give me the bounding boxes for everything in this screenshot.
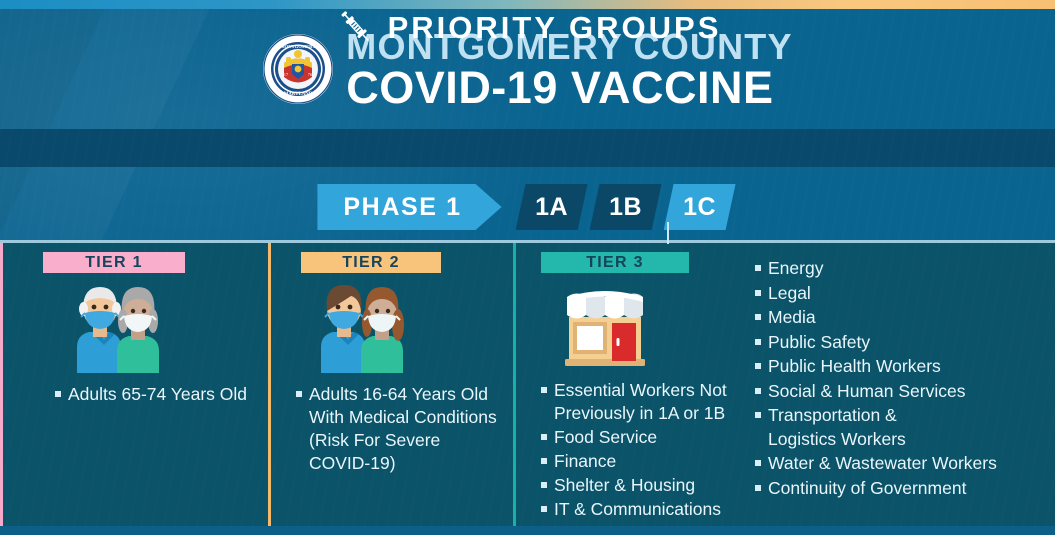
top-gradient-bar — [0, 0, 1055, 9]
bullet-square-icon — [755, 412, 761, 418]
bullet-square-icon — [755, 314, 761, 320]
phase-navigation: PHASE 1 1A 1B 1C — [0, 181, 1055, 233]
list-item: Continuity of Government — [755, 477, 1047, 501]
infographic-root: MONTGOMERY MARYLAND 17 76 MONTGOMERY COU… — [0, 0, 1055, 535]
bullet-square-icon — [541, 506, 547, 512]
tab-1c[interactable]: 1C — [664, 184, 736, 230]
list-item: Public Safety — [755, 331, 1047, 355]
tab-1b[interactable]: 1B — [590, 184, 662, 230]
tier-1-accent-line — [0, 243, 3, 526]
page-subtitle: PRIORITY GROUPS — [388, 10, 722, 46]
subtitle-band — [0, 129, 1055, 167]
list-item: Adults 16-64 Years Old With Medical Cond… — [296, 383, 505, 475]
tiers-content-area: TIER 1 — [0, 243, 1055, 526]
bullet-square-icon — [541, 434, 547, 440]
bottom-gradient-bar — [0, 526, 1055, 535]
tier-2-items: Adults 16-64 Years Old With Medical Cond… — [296, 383, 505, 476]
tier-1-label: TIER 1 — [43, 252, 185, 273]
bullet-square-icon — [541, 458, 547, 464]
list-item: Social & Human Services — [755, 380, 1047, 404]
list-item: Food Service — [541, 426, 737, 449]
list-item: Essential Workers Not Previously in 1A o… — [541, 379, 737, 425]
bullet-square-icon — [541, 387, 547, 393]
tier-3-accent-line — [513, 243, 516, 526]
tab-1a-label: 1A — [535, 193, 568, 222]
list-item: Transportation & Logistics Workers — [755, 404, 1047, 451]
bullet-square-icon — [755, 388, 761, 394]
bullet-square-icon — [755, 363, 761, 369]
header-banner: MONTGOMERY MARYLAND 17 76 MONTGOMERY COU… — [0, 9, 1055, 243]
tier-3-continued-items: Energy Legal Media Public Safety Public … — [755, 257, 1047, 501]
band-stripe-texture — [0, 129, 1055, 167]
bullet-square-icon — [755, 265, 761, 271]
tab-1b-label: 1B — [609, 193, 642, 222]
bullet-square-icon — [755, 485, 761, 491]
bullet-square-icon — [755, 290, 761, 296]
tier-2-column: TIER 2 — [268, 243, 513, 526]
list-item: Water & Wastewater Workers — [755, 452, 1047, 476]
tab-1c-connector-line — [667, 222, 669, 244]
tab-1c-selected-outline — [660, 179, 740, 235]
list-item: Media — [755, 306, 1047, 330]
list-item: Adults 65-74 Years Old — [55, 383, 260, 406]
bullet-square-icon — [55, 391, 61, 397]
bullet-square-icon — [755, 460, 761, 466]
tab-1a[interactable]: 1A — [516, 184, 588, 230]
bullet-square-icon — [541, 482, 547, 488]
tier-3-continued-column: Energy Legal Media Public Safety Public … — [745, 243, 1055, 526]
storefront-icon — [555, 281, 655, 371]
list-item: IT & Communications — [541, 498, 737, 521]
syringe-icon — [334, 9, 378, 49]
list-item: Finance — [541, 450, 737, 473]
phase-1-label[interactable]: PHASE 1 — [317, 184, 501, 230]
tier-3-items: Essential Workers Not Previously in 1A o… — [541, 379, 737, 522]
adult-couple-masked-icon — [303, 281, 419, 373]
tier-1-items: Adults 65-74 Years Old — [55, 383, 260, 407]
header-content-divider — [0, 240, 1055, 243]
list-item: Shelter & Housing — [541, 474, 737, 497]
tier-2-accent-line — [268, 243, 271, 526]
list-item: Public Health Workers — [755, 355, 1047, 379]
list-item: Legal — [755, 282, 1047, 306]
svg-text:MARYLAND: MARYLAND — [284, 92, 313, 97]
tier-2-label: TIER 2 — [301, 252, 441, 273]
bullet-square-icon — [296, 391, 302, 397]
elderly-couple-masked-icon — [57, 281, 173, 373]
tier-1-column: TIER 1 — [0, 243, 268, 526]
list-item: Energy — [755, 257, 1047, 281]
tier-3-label: TIER 3 — [541, 252, 689, 273]
page-title: COVID-19 VACCINE — [346, 64, 773, 111]
tier-3-column: TIER 3 — [513, 243, 745, 526]
bullet-square-icon — [755, 339, 761, 345]
subtitle-band-content: PRIORITY GROUPS — [0, 9, 1055, 47]
